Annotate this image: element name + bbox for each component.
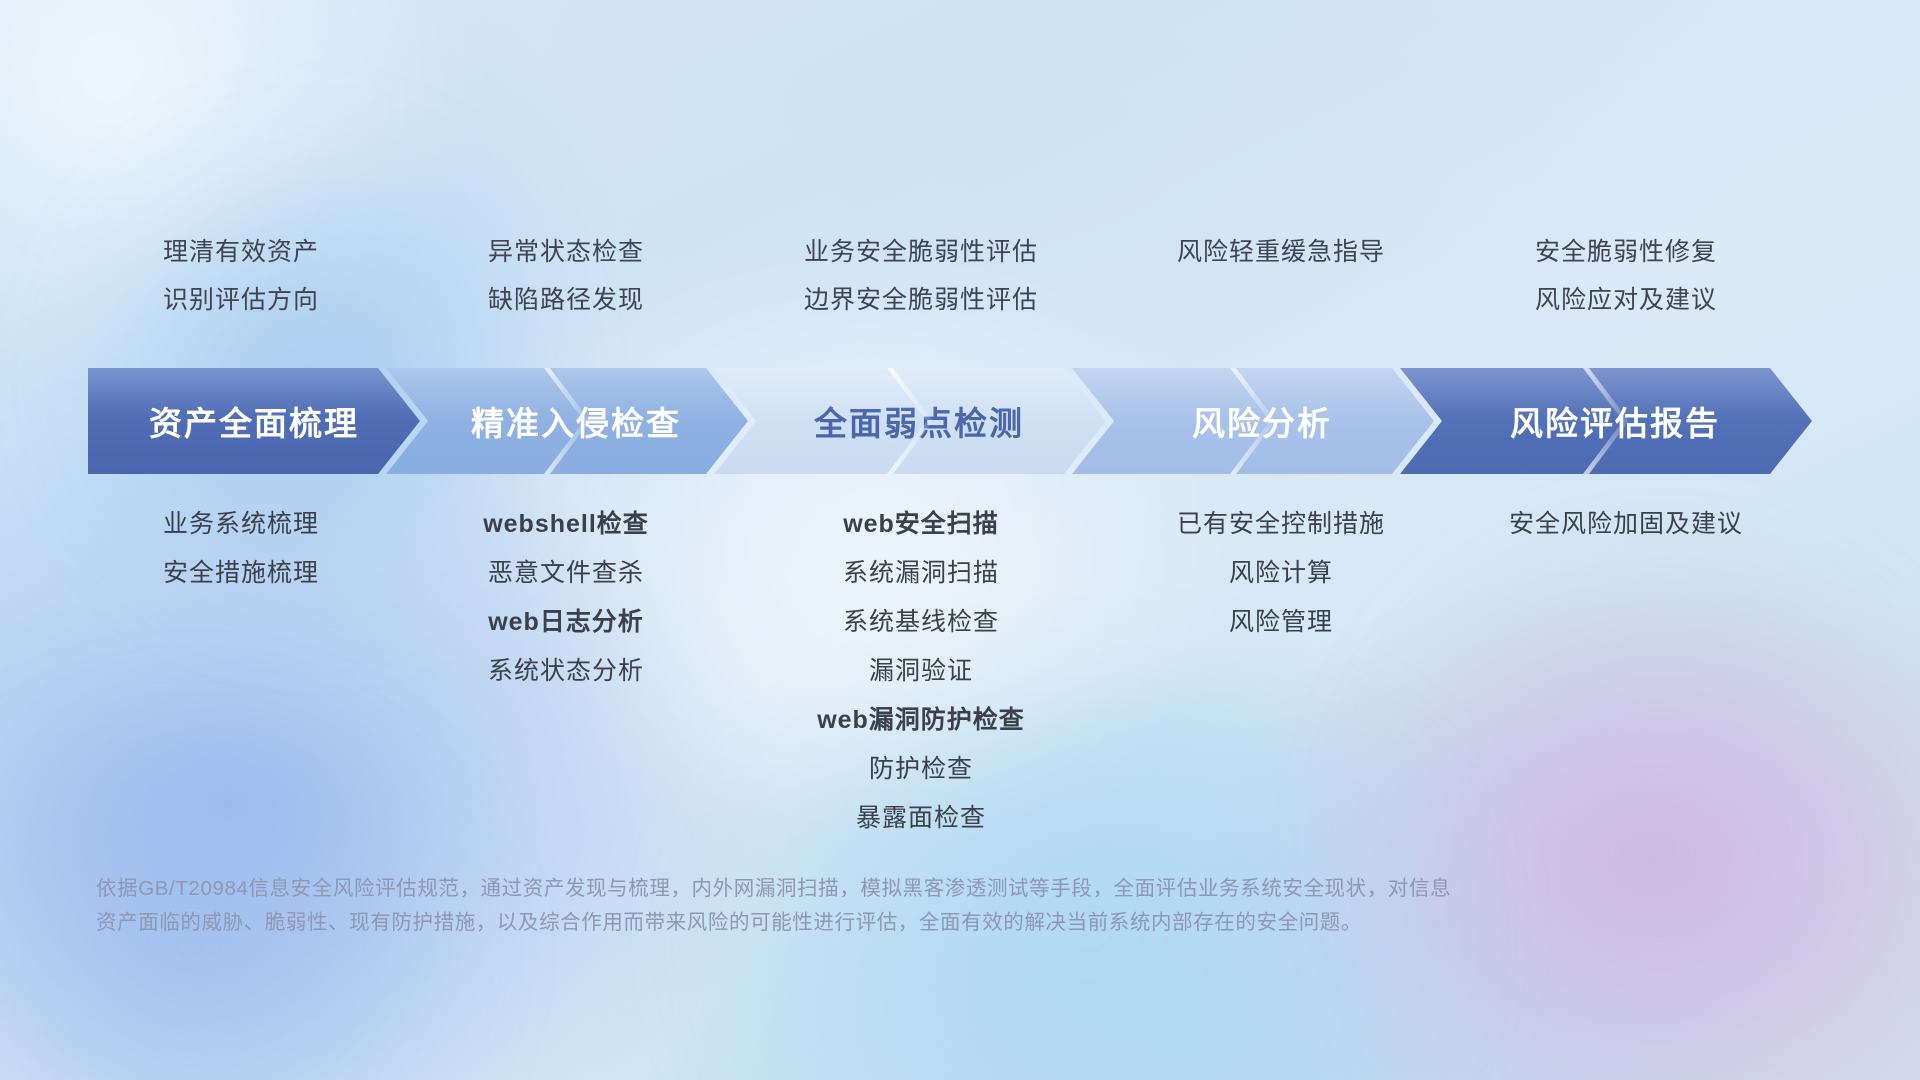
slide-canvas: 理清有效资产 识别评估方向 异常状态检查 缺陷路径发现 业务安全脆弱性评估 边界… (0, 0, 1920, 1080)
stage-chevron-5[interactable]: 风险评估报告 (1400, 368, 1812, 474)
list-item: 风险计算 (1106, 549, 1456, 598)
list-item: 已有安全控制措施 (1106, 500, 1456, 549)
diagram-content: 理清有效资产 识别评估方向 异常状态检查 缺陷路径发现 业务安全脆弱性评估 边界… (0, 0, 1920, 1080)
stage-chevron-label: 全面弱点检测 (796, 397, 1024, 445)
list-item: 业务系统梳理 (86, 500, 396, 549)
top-caption: 缺陷路径发现 (396, 276, 736, 324)
list-item: webshell检查 (396, 500, 736, 549)
list-item: 系统状态分析 (396, 647, 736, 696)
stage-chevron-label: 风险分析 (1174, 397, 1332, 445)
stage-chevron-3[interactable]: 全面弱点检测 (714, 368, 1106, 474)
detail-list-stage-3: web安全扫描 系统漏洞扫描 系统基线检查 漏洞验证 web漏洞防护检查 防护检… (736, 500, 1106, 843)
list-item: 恶意文件查杀 (396, 549, 736, 598)
list-item: 风险管理 (1106, 598, 1456, 647)
list-item: 防护检查 (736, 745, 1106, 794)
top-captions-stage-2: 异常状态检查 缺陷路径发现 (396, 228, 736, 324)
top-caption: 边界安全脆弱性评估 (736, 276, 1106, 324)
top-captions-stage-3: 业务安全脆弱性评估 边界安全脆弱性评估 (736, 228, 1106, 324)
stage-chevron-2[interactable]: 精准入侵检查 (386, 368, 748, 474)
stage-chevron-label: 精准入侵检查 (453, 397, 681, 445)
footer-description: 依据GB/T20984信息安全风险评估规范，通过资产发现与梳理，内外网漏洞扫描，… (96, 872, 1656, 940)
list-item: 安全措施梳理 (86, 549, 396, 598)
list-item: 漏洞验证 (736, 647, 1106, 696)
stage-chevron-1[interactable]: 资产全面梳理 (88, 368, 420, 474)
top-caption: 风险轻重缓急指导 (1106, 228, 1456, 276)
process-arrow-band: 资产全面梳理 精准入侵检查 全面弱点检测 风险分析 风险评估报告 (88, 368, 1848, 474)
top-captions-stage-4: 风险轻重缓急指导 (1106, 228, 1456, 324)
stage-chevron-label: 风险评估报告 (1492, 397, 1720, 445)
top-caption: 识别评估方向 (86, 276, 396, 324)
detail-list-stage-5: 安全风险加固及建议 (1456, 500, 1796, 549)
top-caption: 安全脆弱性修复 (1456, 228, 1796, 276)
detail-list-row: 业务系统梳理 安全措施梳理 webshell检查 恶意文件查杀 web日志分析 … (86, 500, 1864, 843)
detail-list-stage-2: webshell检查 恶意文件查杀 web日志分析 系统状态分析 (396, 500, 736, 696)
stage-chevron-label: 资产全面梳理 (149, 397, 359, 445)
top-captions-stage-1: 理清有效资产 识别评估方向 (86, 228, 396, 324)
top-captions-stage-5: 安全脆弱性修复 风险应对及建议 (1456, 228, 1796, 324)
top-caption: 理清有效资产 (86, 228, 396, 276)
list-item: 安全风险加固及建议 (1456, 500, 1796, 549)
footer-line-1: 依据GB/T20984信息安全风险评估规范，通过资产发现与梳理，内外网漏洞扫描，… (96, 872, 1656, 906)
top-caption: 异常状态检查 (396, 228, 736, 276)
footer-line-2: 资产面临的威胁、脆弱性、现有防护措施，以及综合作用而带来风险的可能性进行评估，全… (96, 906, 1656, 940)
top-caption-row: 理清有效资产 识别评估方向 异常状态检查 缺陷路径发现 业务安全脆弱性评估 边界… (86, 228, 1864, 324)
list-item: 系统漏洞扫描 (736, 549, 1106, 598)
stage-chevron-4[interactable]: 风险分析 (1072, 368, 1434, 474)
detail-list-stage-1: 业务系统梳理 安全措施梳理 (86, 500, 396, 598)
list-item: 系统基线检查 (736, 598, 1106, 647)
detail-list-stage-4: 已有安全控制措施 风险计算 风险管理 (1106, 500, 1456, 647)
list-item: web安全扫描 (736, 500, 1106, 549)
top-caption: 业务安全脆弱性评估 (736, 228, 1106, 276)
list-item: web漏洞防护检查 (736, 696, 1106, 745)
list-item: web日志分析 (396, 598, 736, 647)
top-caption: 风险应对及建议 (1456, 276, 1796, 324)
list-item: 暴露面检查 (736, 794, 1106, 843)
